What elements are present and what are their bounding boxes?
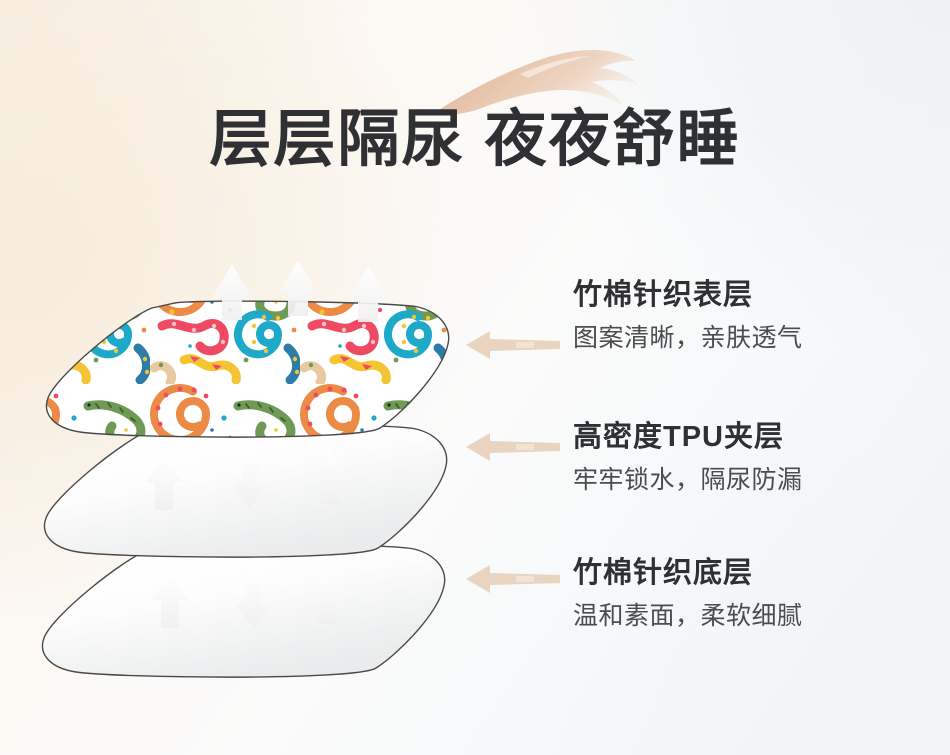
- arrow-left-icon: [464, 430, 564, 464]
- callout-heading: 竹棉针织表层: [573, 276, 803, 314]
- callout-description: 温和素面，柔软细腻: [573, 598, 803, 634]
- callout-middle-layer: 高密度TPU夹层 牢牢锁水，隔尿防漏: [573, 418, 803, 498]
- callout-description: 图案清晰，亲肤透气: [573, 320, 803, 356]
- callout-description: 牢牢锁水，隔尿防漏: [573, 462, 803, 498]
- top-layer-snake-print: [30, 290, 470, 450]
- callout-top-layer: 竹棉针织表层 图案清晰，亲肤透气: [573, 276, 803, 356]
- product-infographic: 层层隔尿 夜夜舒睡: [0, 0, 950, 755]
- callout-heading: 高密度TPU夹层: [573, 418, 803, 456]
- top-layer-sheet: [30, 290, 470, 450]
- arrow-left-icon: [464, 562, 564, 596]
- layer-stack-illustration: [0, 0, 950, 755]
- breath-arrows-above-top: [212, 260, 388, 322]
- callout-heading: 竹棉针织底层: [573, 554, 803, 592]
- arrow-left-icon: [464, 328, 564, 362]
- callout-bottom-layer: 竹棉针织底层 温和素面，柔软细腻: [573, 554, 803, 634]
